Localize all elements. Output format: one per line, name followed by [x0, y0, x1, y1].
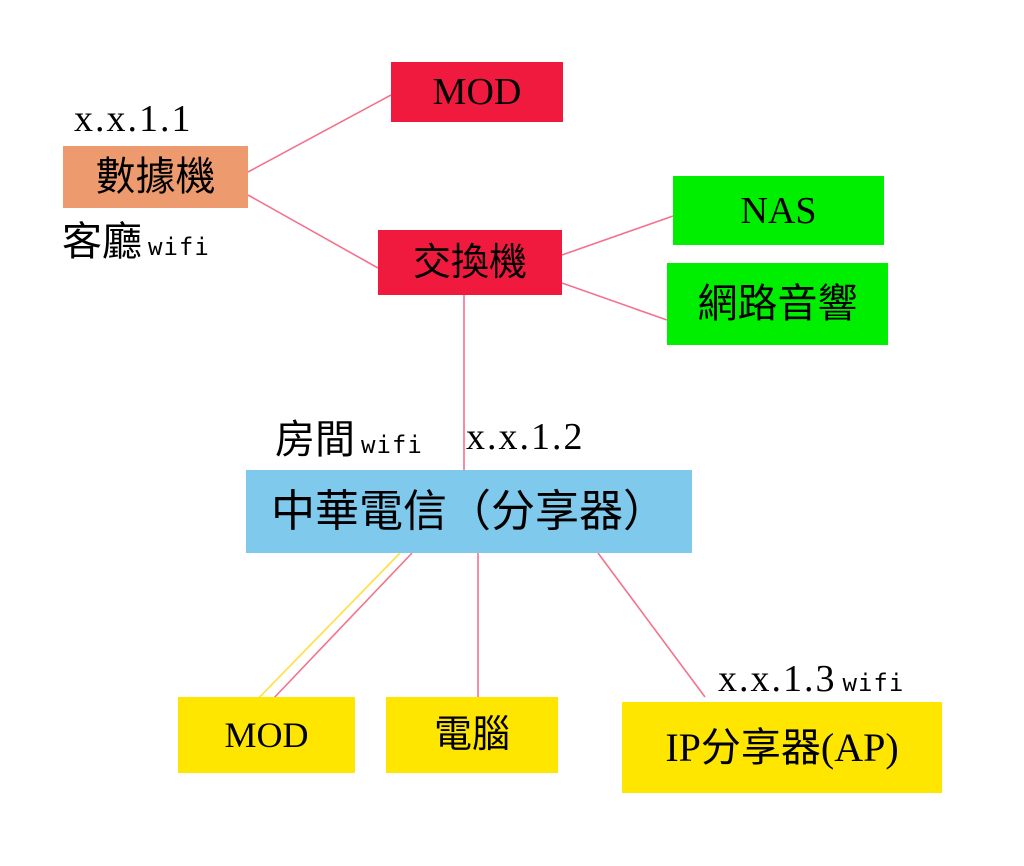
node-label: 數據機 [96, 157, 216, 197]
node-modem[interactable]: 數據機 [63, 146, 248, 208]
node-label: 中華電信（分享器） [271, 490, 667, 534]
label-text: 客廳 [62, 222, 142, 262]
label-wifi-tag: wifi [843, 671, 905, 695]
label-wifi-tag: wifi [148, 235, 210, 259]
node-network_audio[interactable]: 網路音響 [667, 263, 888, 345]
node-label: 交換機 [413, 244, 527, 282]
node-label: 電腦 [434, 716, 510, 754]
node-label: 網路音響 [698, 284, 858, 324]
label-router_zone: 房間wifi [275, 420, 423, 460]
node-label: MOD [433, 73, 522, 111]
connection-line-switch-to-audio [562, 283, 667, 320]
node-label: MOD [224, 717, 308, 753]
label-text: 房間 [275, 420, 355, 460]
connection-line-router-to-mod-yellow [250, 553, 400, 707]
node-label: NAS [740, 192, 816, 230]
node-label: IP分享器(AP) [665, 728, 898, 768]
label-modem_ip: x.x.1.1 [74, 100, 193, 138]
network-diagram-canvas: 數據機MOD交換機NAS網路音響中華電信（分享器）MOD電腦IP分享器(AP) … [0, 0, 1024, 866]
connection-line-router-to-ap [598, 553, 705, 697]
label-ap_ip: x.x.1.3wifi [718, 660, 904, 698]
node-nas[interactable]: NAS [673, 176, 884, 245]
node-router[interactable]: 中華電信（分享器） [246, 470, 692, 553]
node-mod_top[interactable]: MOD [391, 62, 563, 122]
connection-line-modem-to-mod [248, 95, 391, 172]
node-ap_router[interactable]: IP分享器(AP) [622, 702, 942, 793]
node-computer[interactable]: 電腦 [386, 697, 558, 773]
label-modem_zone: 客廳wifi [62, 222, 210, 262]
label-text: x.x.1.3 [718, 660, 837, 698]
label-text: x.x.1.1 [74, 100, 193, 138]
label-wifi-tag: wifi [361, 433, 423, 457]
node-mod_bottom[interactable]: MOD [178, 697, 355, 773]
label-router_ip: x.x.1.2 [466, 418, 585, 456]
node-switch[interactable]: 交換機 [378, 230, 562, 295]
connection-line-router-to-mod-red [272, 553, 412, 700]
connection-line-modem-to-switch [248, 195, 378, 268]
connection-line-switch-to-nas [562, 216, 673, 255]
label-text: x.x.1.2 [466, 418, 585, 456]
